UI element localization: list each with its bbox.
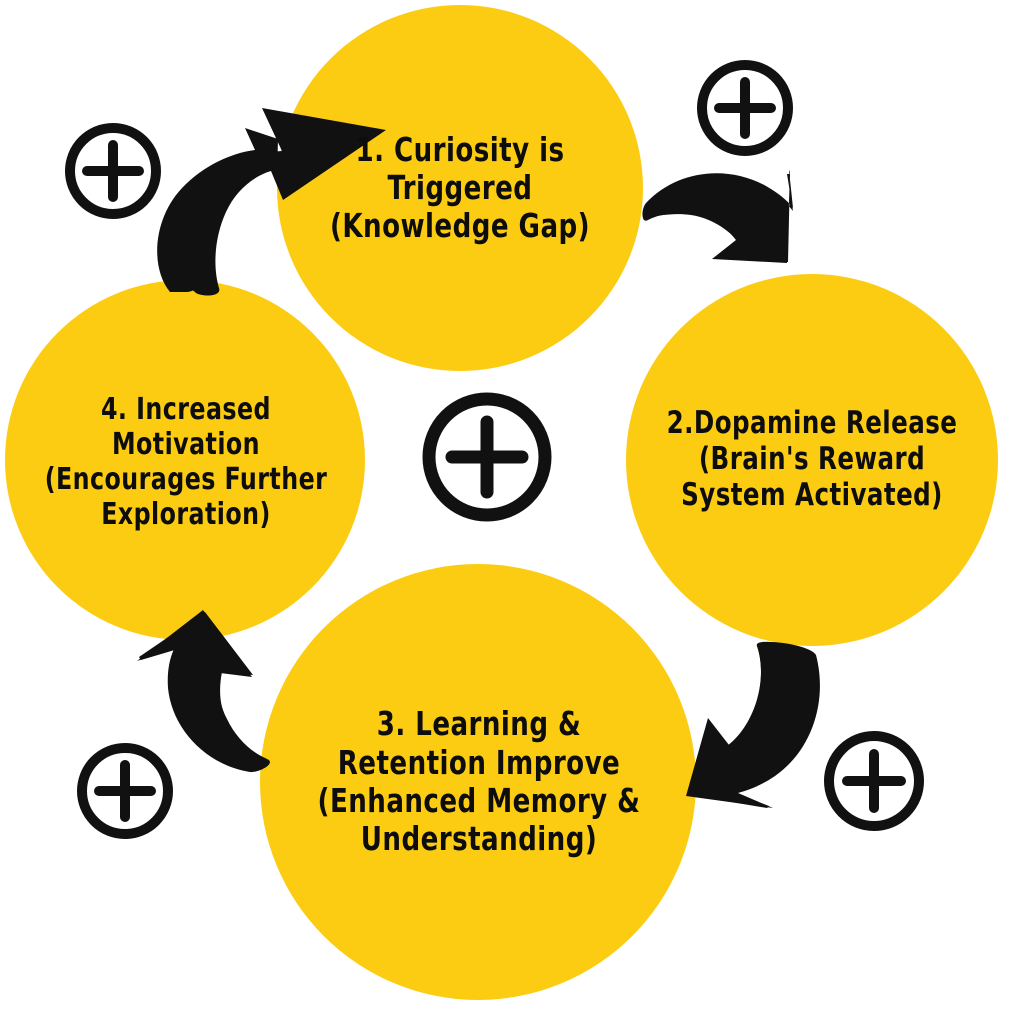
plus-top-left-icon[interactable] <box>70 128 156 214</box>
diagram-graphics <box>0 0 1024 1024</box>
node-circle-4[interactable] <box>5 280 365 640</box>
node-circle-3[interactable] <box>260 564 696 1000</box>
arrow-1-to-2 <box>642 170 793 263</box>
arrow-2-to-3 <box>686 642 820 808</box>
node-circle-2[interactable] <box>626 274 998 646</box>
diagram-canvas: 1. Curiosity is Triggered (Knowledge Gap… <box>0 0 1024 1024</box>
plus-top-right-icon[interactable] <box>702 65 788 151</box>
node-circle-1[interactable] <box>277 5 643 371</box>
plus-center-icon[interactable] <box>429 399 545 515</box>
plus-bottom-left-icon[interactable] <box>82 748 168 834</box>
plus-bottom-right-icon[interactable] <box>829 736 919 826</box>
